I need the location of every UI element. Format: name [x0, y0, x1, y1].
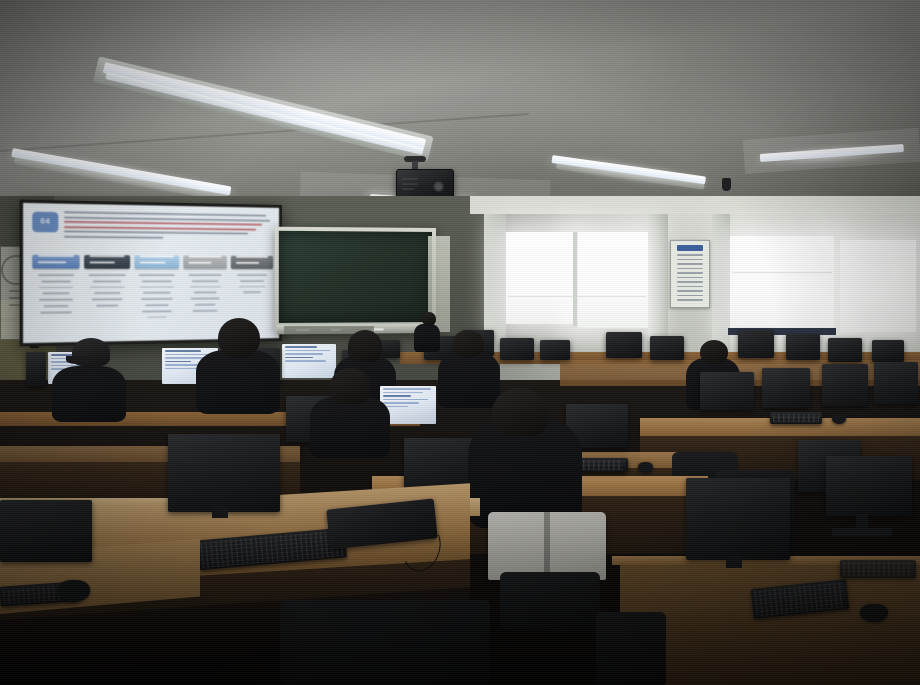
monitor	[826, 456, 912, 516]
window-center	[578, 232, 648, 328]
slide-paragraph	[64, 211, 272, 242]
student-center-back-head	[348, 330, 382, 362]
blind-edge-right	[732, 272, 832, 273]
mouse	[860, 604, 888, 622]
monitor	[762, 368, 810, 408]
slide-column-1	[32, 250, 79, 324]
chair-foreground-right	[596, 612, 666, 685]
projector-lens-icon	[433, 181, 444, 192]
monitor	[738, 330, 774, 358]
ceiling-camera-icon	[722, 178, 731, 191]
pc-tower	[26, 352, 46, 386]
student-back-left-head	[218, 318, 260, 358]
chair-white-seam	[544, 512, 550, 578]
monitor	[540, 340, 570, 360]
keyboard	[840, 560, 916, 578]
monitor-stand	[726, 556, 742, 568]
mouse	[832, 414, 846, 424]
student-right-row-head	[700, 340, 728, 364]
notice-poster	[670, 240, 710, 308]
window-left	[506, 232, 574, 324]
classroom-photo: 04	[0, 0, 920, 685]
chair-base	[500, 572, 600, 630]
monitor	[872, 340, 904, 362]
student-back-left	[196, 350, 280, 414]
blind-edge	[508, 296, 646, 297]
slide-badge: 04	[32, 212, 58, 233]
monitor	[0, 500, 92, 562]
monitor	[822, 364, 868, 406]
mouse	[638, 462, 653, 473]
student-ponytail-head	[330, 368, 370, 404]
monitor	[168, 434, 280, 512]
monitor	[828, 338, 862, 362]
student-front-center-head	[492, 388, 548, 436]
monitor	[874, 362, 918, 404]
monitor-base	[832, 528, 892, 536]
student-ponytail	[310, 396, 390, 458]
window-mullion	[573, 232, 577, 326]
monitor	[650, 336, 684, 360]
instructor	[414, 324, 440, 352]
student-mid-center	[438, 352, 500, 408]
slide-column-4	[183, 251, 226, 321]
window-right	[730, 236, 834, 332]
chalkboard-surface	[279, 231, 432, 323]
student-cap-left-body	[52, 366, 126, 422]
notice-poster-header	[677, 245, 703, 251]
window-far-right	[840, 240, 916, 332]
slide-column-3	[134, 251, 179, 322]
monitor	[700, 372, 754, 410]
monitor-stand	[212, 506, 228, 518]
mouse	[58, 580, 90, 602]
wall-top-trim	[470, 196, 920, 214]
student-mid-center-head	[452, 330, 484, 358]
slide-column-2	[84, 251, 130, 323]
keyboard	[770, 412, 822, 424]
monitor	[786, 334, 820, 360]
monitor-screen-lit	[282, 344, 336, 378]
chair-foreground	[280, 600, 490, 685]
cap-brim	[66, 356, 86, 364]
monitor	[606, 332, 642, 358]
monitor	[500, 338, 534, 360]
instructor-head	[422, 312, 436, 326]
chalkboard	[275, 227, 436, 335]
monitor	[686, 478, 790, 560]
wall-pillar-mid	[648, 214, 668, 354]
slide-column-5	[231, 252, 273, 321]
slide-columns	[32, 250, 273, 324]
